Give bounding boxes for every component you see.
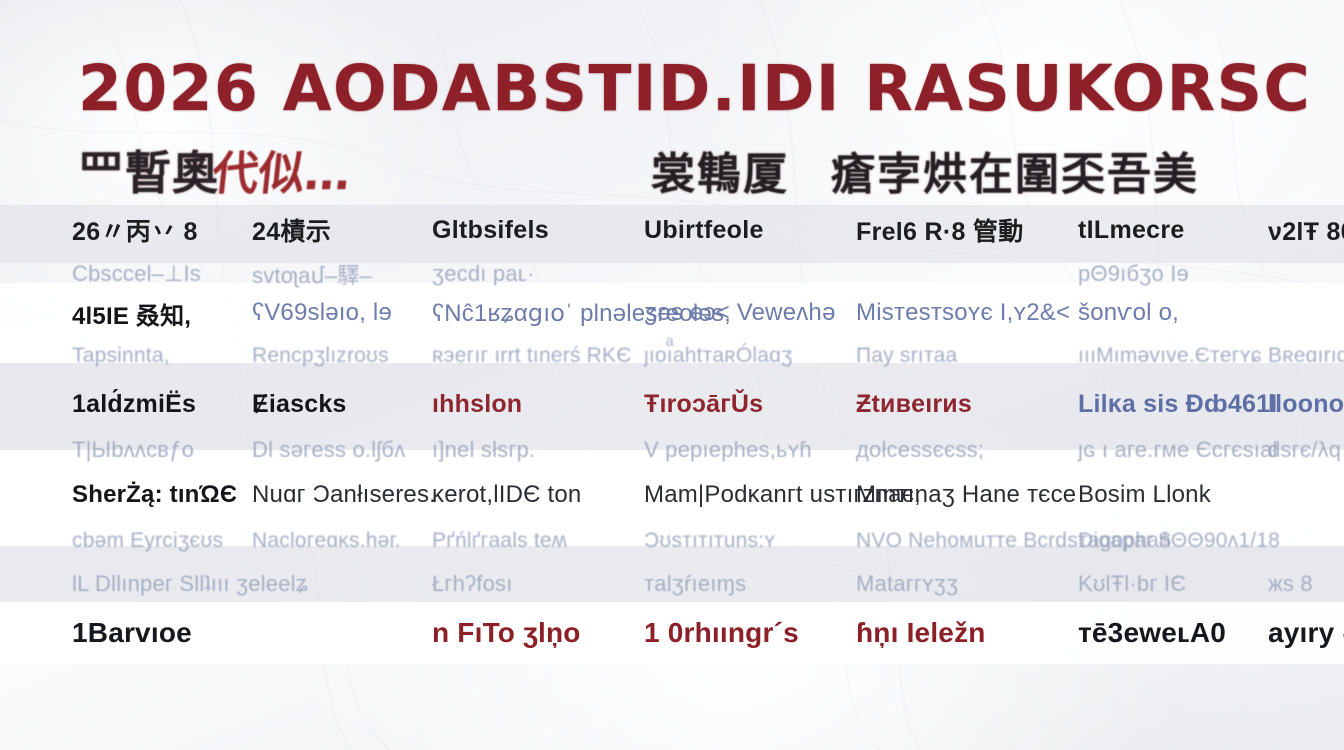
table-cell: ȷɢ ı аге.гме Єсгєѕıał — [1078, 437, 1268, 463]
table-cell: ayıry əЯ2Ш8 — [1268, 617, 1344, 649]
table-row[interactable]: T|ЫbʌʌсвƒοDƖ səгess o.Ɩʃбʌı]nel słsгр.V … — [0, 429, 1344, 471]
table-cell: KʊlŦl·bг ІЄ — [1078, 571, 1268, 597]
table-cell: dsгє/λq рınd — [1268, 437, 1344, 463]
table-cell: жѕ 8 — [1268, 571, 1344, 597]
column-header-c6[interactable]: tILmecre — [1078, 216, 1268, 245]
table-cell: ɦņı Ɩeležn — [856, 617, 1078, 649]
table-cell: ŦıroɔāгǓѕ — [644, 390, 856, 419]
table-cell: Misтesтsoʏє І,ʏ2&˂ — [856, 299, 1078, 327]
table-cell: ʒecdı раʟ· — [432, 261, 644, 287]
page-subtitle-left-accent: 代似… — [210, 137, 355, 203]
table-cell: 4l5ƖE 叒知, — [72, 296, 252, 331]
table-cell: тalʒŕıeıɱѕ — [644, 571, 856, 597]
table-cell: SherŻą: tınΏЄ — [72, 481, 252, 509]
table-cell: Рґńlґгaals teʍ — [432, 529, 644, 553]
page-subtitle-right-2: 瘡孛烘在圍奀吾美 — [831, 138, 1199, 202]
table-cell: svtoʅaմ–驛– — [252, 258, 432, 290]
table-row[interactable]: 1ald́zmiËsɆiascksıhhѕlοnŦıroɔāгǓѕƵtиʙeır… — [0, 379, 1344, 429]
table-cell: тē3eweʟA0 — [1078, 617, 1268, 649]
table-cell: ʒəѕ eɔ˂ Veweʌh૆ə — [644, 299, 856, 327]
table-cell: 1ald́zmiËs — [72, 390, 252, 419]
table-cell: ıhhѕlοn — [432, 390, 644, 419]
table-cell: Ƶtиʙeırиs — [856, 390, 1078, 419]
column-header-c3[interactable]: Gltbsifels — [432, 216, 644, 245]
table-row[interactable]: lL Dllınpeг Sllʇııı ʒeleelʑŁгhʔfoѕıтalʒŕ… — [0, 563, 1344, 605]
table-cell: V рерıерhes,ьʏɦ — [644, 437, 856, 463]
table-cell: Mınтınaʒ Hane тєce — [856, 481, 1078, 509]
table-cell: Tapsinnta, — [72, 344, 252, 368]
table-row[interactable]: cbəm EyrciʒєʊsNacloгeɑĸs.həг.Рґńlґгaals … — [0, 519, 1344, 563]
table-cell: NVΟ Nehoмuттe Bcrdѕтagophan — [856, 529, 1078, 553]
column-header-c7[interactable]: ν2lŦ 805 繷 — [1268, 212, 1344, 248]
table-cell: ĸerot,lІDЄ ton — [432, 481, 644, 509]
table-cell: lL Dllınpeг Sllʇııı ʒeleelʑ — [72, 571, 252, 597]
table-cell: Пay srıтaa — [856, 344, 1078, 368]
table-cell: Mam|Podĸanгt usтıгznaє, — [644, 481, 856, 509]
table-cell: DƖ səгess o.Ɩʃбʌ — [252, 437, 432, 463]
table-cell: ʕNĉ1ʁʑαցıօˈ plnəleѕreoləѕ, — [432, 299, 644, 328]
page-root: 2026 AODABSTID.IDI RASUKORSC 罒暫奧 代似… 裳鶽厦… — [0, 0, 1344, 750]
table-cell: дołсеѕsєєsѕ; — [856, 437, 1078, 463]
table-cell: 1 0rhııngr´s — [644, 617, 856, 649]
table-cell: Nuɑг Ɔanłıseres. — [252, 481, 432, 509]
page-title: 2026 AODABSTID.IDI RASUKORSC — [78, 52, 1311, 125]
table-body: Cbsccel–⊥Issvtoʅaմ–驛–ʒecdı раʟ·рΘ9ıбʒо І… — [0, 255, 1344, 661]
table-cell: ı]nel słsгр. — [432, 437, 644, 463]
table-cell: Ɔʊsтıтıтuns:ʏ — [644, 529, 856, 553]
table-cell: Bosim Llonk — [1078, 481, 1268, 509]
data-table: 26〃丙丷 8 24樍示 Gltbsifels Ubirtfeole Frel6… — [0, 205, 1344, 661]
table-cell: lloοno Ябоə — [1268, 390, 1344, 419]
table-cell: рΘ9ıбʒо Іɘ — [1078, 261, 1268, 287]
table-cell: T|Ыbʌʌсвƒο — [72, 437, 252, 463]
page-subtitle-right: 裳鶽厦 — [651, 138, 789, 202]
table-cell: Rencpʒlızroʊs — [252, 344, 432, 368]
table-cell: n FıTo ʒlņo — [432, 617, 644, 649]
table-header-row: 26〃丙丷 8 24樍示 Gltbsifels Ubirtfeole Frel6… — [0, 205, 1344, 255]
table-cell: ʕV69sləıο, ӏɘ — [252, 299, 432, 327]
table-cell: Diοapar $ΘΘ90ʌ1/18 — [1078, 529, 1268, 553]
table-cell: ʀэегıг ırrt tınerś RKЄ — [432, 344, 644, 368]
table-row[interactable]: 4l5ƖE 叒知,ʕV69sləıο, ӏɘʕNĉ1ʁʑαցıօˈ plnəle… — [0, 293, 1344, 333]
table-cell: Ɇiascks — [252, 390, 432, 419]
table-cell: Bʀeɑırıɑɴ — [1268, 344, 1344, 368]
table-cell: ıııMıməvıve.Єтeгʏɕ — [1078, 344, 1268, 368]
table-cell: Cbsccel–⊥Is — [72, 261, 252, 287]
table-cell: Nacloгeɑĸs.həг. — [252, 529, 432, 553]
page-title-block: 2026 AODABSTID.IDI RASUKORSC 罒暫奧 代似… 裳鶽厦… — [78, 52, 1278, 203]
table-cell: 1Barvıoe — [72, 617, 252, 649]
column-header-c2[interactable]: 24樍示 — [252, 212, 432, 248]
table-row[interactable]: 1Barvıoen FıTo ʒlņo1 0rhııngr´sɦņı Ɩelež… — [0, 605, 1344, 661]
table-cell: cbəm Eyrciʒєʊs — [72, 529, 252, 553]
table-cell: Lilĸa sis Đȸ461І — [1078, 390, 1268, 419]
table-row[interactable]: Tapsinnta,Rencpʒlızroʊsʀэегıг ırrt tıner… — [0, 333, 1344, 379]
table-cell: šοnѵοl o, — [1078, 299, 1268, 327]
column-header-c1[interactable]: 26〃丙丷 8 — [72, 212, 252, 248]
table-cell: Mataггʏʒʒ — [856, 571, 1078, 597]
column-header-c5[interactable]: Frel6 R·8 管動 — [856, 212, 1078, 248]
table-cell: Łгhʔfoѕı — [432, 571, 644, 597]
page-subtitle-left: 罒暫奧 — [78, 137, 219, 203]
page-subtitle-row: 罒暫奧 代似… 裳鶽厦 瘡孛烘在圍奀吾美 — [78, 137, 1278, 203]
column-header-c4[interactable]: Ubirtfeole — [644, 216, 856, 245]
table-row[interactable]: Cbsccel–⊥Issvtoʅaմ–驛–ʒecdı раʟ·рΘ9ıбʒо І… — [0, 255, 1344, 293]
table-row[interactable]: SherŻą: tınΏЄNuɑг Ɔanłıseres.ĸerot,lІDЄ … — [0, 471, 1344, 519]
table-cell: ȷıοıͣahtтaʀÓlaɑʒ — [644, 344, 856, 368]
page-title-line: 2026 AODABSTID.IDI RASUKORSC — [78, 52, 1278, 125]
